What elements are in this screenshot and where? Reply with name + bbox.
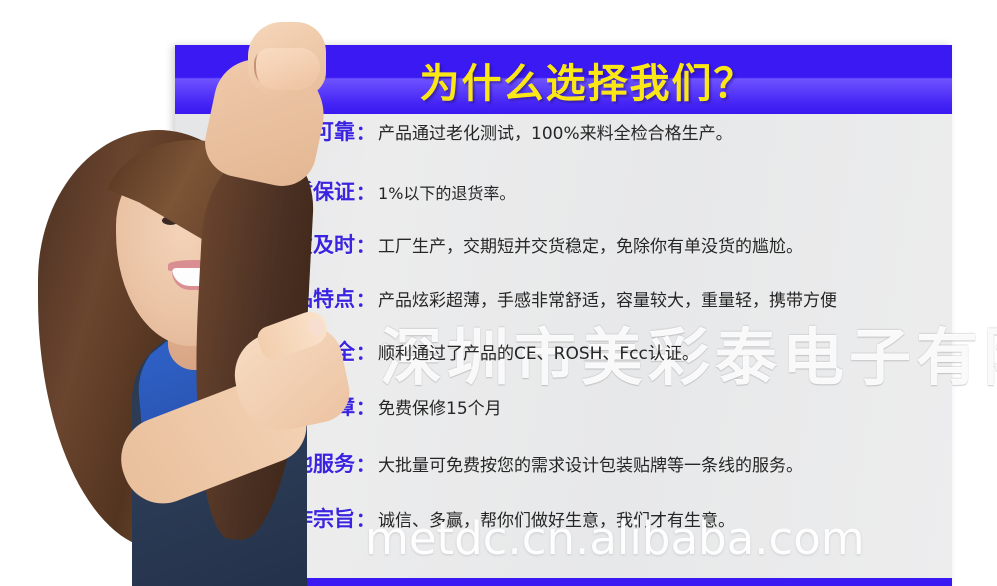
- label-separator: ：: [355, 235, 378, 257]
- list-item-desc: 工厂生产，交期短并交货稳定，免除你有单没货的尴尬。: [378, 237, 803, 257]
- promo-banner-image: 为什么选择我们？ 深圳市美彩泰电子有限公司 安全可靠：产品通过老化测试，100%…: [0, 0, 997, 586]
- hand-holding-board: [248, 22, 326, 96]
- label-separator: ：: [355, 342, 378, 364]
- label-separator: ：: [355, 122, 378, 144]
- list-item-desc: 诚信、多赢，帮你们做好生意，我们才有生意。: [378, 511, 735, 531]
- label-separator: ：: [355, 397, 378, 419]
- label-separator: ：: [355, 182, 378, 204]
- list-item-desc: 顺利通过了产品的CE、ROSH、Fcc认证。: [378, 344, 699, 364]
- list-item-desc: 1%以下的退货率。: [378, 184, 515, 203]
- list-item-desc: 大批量可免费按您的需求设计包装贴牌等一条线的服务。: [378, 456, 803, 476]
- label-separator: ：: [355, 454, 378, 476]
- list-item-desc: 产品通过老化测试，100%来料全检合格生产。: [378, 124, 733, 144]
- label-separator: ：: [355, 289, 378, 311]
- list-item-desc: 产品炫彩超薄，手感非常舒适，容量较大，重量轻，携带方便: [378, 291, 837, 311]
- label-separator: ：: [355, 509, 378, 531]
- list-item-desc: 免费保修15个月: [378, 399, 502, 419]
